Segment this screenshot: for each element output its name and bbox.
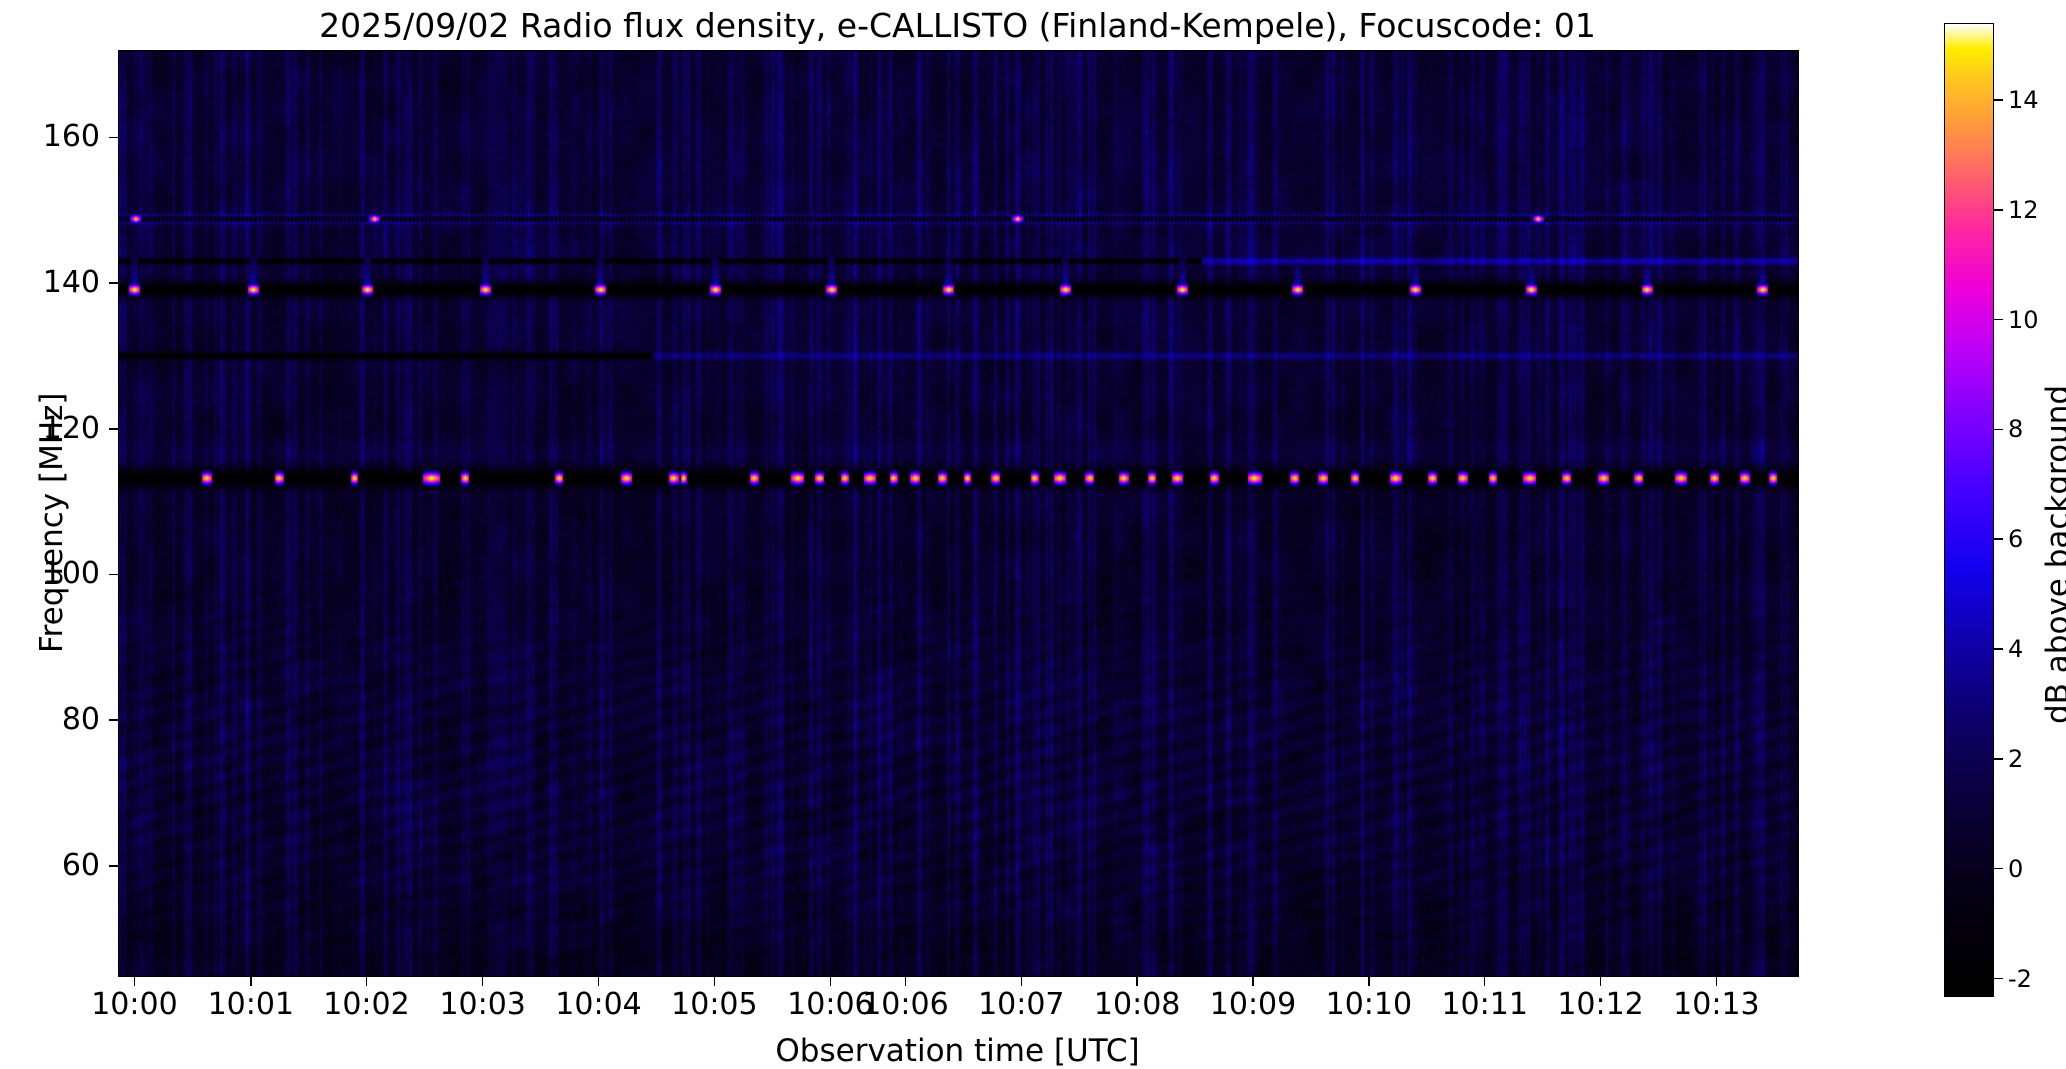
colorbar-tick-mark bbox=[1994, 319, 2003, 321]
x-tick-mark bbox=[250, 977, 252, 986]
x-tick-mark bbox=[1368, 977, 1370, 986]
colorbar-tick-label: -2 bbox=[2008, 967, 2032, 991]
x-tick-mark bbox=[134, 977, 136, 986]
x-tick-mark bbox=[830, 977, 832, 986]
x-tick-label: 10:10 bbox=[1326, 989, 1412, 1021]
x-tick-label: 10:04 bbox=[555, 989, 641, 1021]
y-tick-label: 60 bbox=[8, 851, 100, 881]
y-tick-label: 80 bbox=[8, 705, 100, 735]
x-tick-label: 10:03 bbox=[439, 989, 525, 1021]
colorbar-tick-label: 14 bbox=[2008, 88, 2039, 112]
x-tick-label: 10:06 bbox=[862, 989, 948, 1021]
x-tick-label: 10:08 bbox=[1094, 989, 1180, 1021]
x-tick-label: 10:07 bbox=[978, 989, 1064, 1021]
x-tick-mark bbox=[1600, 977, 1602, 986]
colorbar-tick-mark bbox=[1994, 429, 2003, 431]
x-tick-mark bbox=[482, 977, 484, 986]
x-tick-mark bbox=[1484, 977, 1486, 986]
x-tick-label: 10:13 bbox=[1673, 989, 1759, 1021]
x-axis-label: Observation time [UTC] bbox=[118, 1033, 1797, 1069]
spectrogram-figure: 2025/09/02 Radio flux density, e-CALLIST… bbox=[0, 0, 2066, 1067]
colorbar-label: dB above background bbox=[2040, 385, 2066, 724]
x-tick-mark bbox=[714, 977, 716, 986]
colorbar-tick-mark bbox=[1994, 978, 2003, 980]
colorbar-tick-label: 8 bbox=[2008, 417, 2023, 441]
x-tick-mark bbox=[1021, 977, 1023, 986]
colorbar-tick-label: 12 bbox=[2008, 198, 2039, 222]
x-tick-mark bbox=[366, 977, 368, 986]
y-tick-label: 160 bbox=[8, 122, 100, 152]
y-tick-mark bbox=[109, 865, 118, 867]
x-tick-mark bbox=[1136, 977, 1138, 986]
y-tick-label: 100 bbox=[8, 559, 100, 589]
spectrogram-plot-area bbox=[118, 50, 1799, 977]
colorbar-gradient bbox=[1945, 24, 1993, 996]
y-tick-mark bbox=[109, 574, 118, 576]
x-tick-label: 10:00 bbox=[91, 989, 177, 1021]
x-tick-label: 10:11 bbox=[1441, 989, 1527, 1021]
x-tick-label: 10:12 bbox=[1557, 989, 1643, 1021]
x-tick-label: 10:06 bbox=[787, 989, 873, 1021]
x-tick-mark bbox=[598, 977, 600, 986]
x-tick-label: 10:09 bbox=[1210, 989, 1296, 1021]
x-tick-mark bbox=[1252, 977, 1254, 986]
colorbar-tick-label: 4 bbox=[2008, 637, 2023, 661]
colorbar bbox=[1944, 23, 1994, 997]
y-tick-mark bbox=[109, 719, 118, 721]
colorbar-tick-mark bbox=[1994, 868, 2003, 870]
colorbar-tick-label: 2 bbox=[2008, 747, 2023, 771]
figure-title: 2025/09/02 Radio flux density, e-CALLIST… bbox=[118, 6, 1797, 46]
y-tick-mark bbox=[109, 282, 118, 284]
colorbar-tick-mark bbox=[1994, 209, 2003, 211]
colorbar-tick-mark bbox=[1994, 99, 2003, 101]
x-tick-mark bbox=[905, 977, 907, 986]
x-tick-label: 10:05 bbox=[671, 989, 757, 1021]
colorbar-tick-label: 6 bbox=[2008, 527, 2023, 551]
colorbar-tick-label: 10 bbox=[2008, 308, 2039, 332]
y-tick-mark bbox=[109, 428, 118, 430]
colorbar-tick-mark bbox=[1994, 758, 2003, 760]
x-tick-label: 10:01 bbox=[208, 989, 294, 1021]
y-tick-mark bbox=[109, 137, 118, 139]
colorbar-tick-mark bbox=[1994, 538, 2003, 540]
x-tick-label: 10:02 bbox=[323, 989, 409, 1021]
y-tick-label: 120 bbox=[8, 414, 100, 444]
x-tick-mark bbox=[1716, 977, 1718, 986]
y-tick-label: 140 bbox=[8, 268, 100, 298]
colorbar-tick-mark bbox=[1994, 648, 2003, 650]
colorbar-tick-label: 0 bbox=[2008, 857, 2023, 881]
spectrogram-canvas bbox=[119, 51, 1798, 976]
